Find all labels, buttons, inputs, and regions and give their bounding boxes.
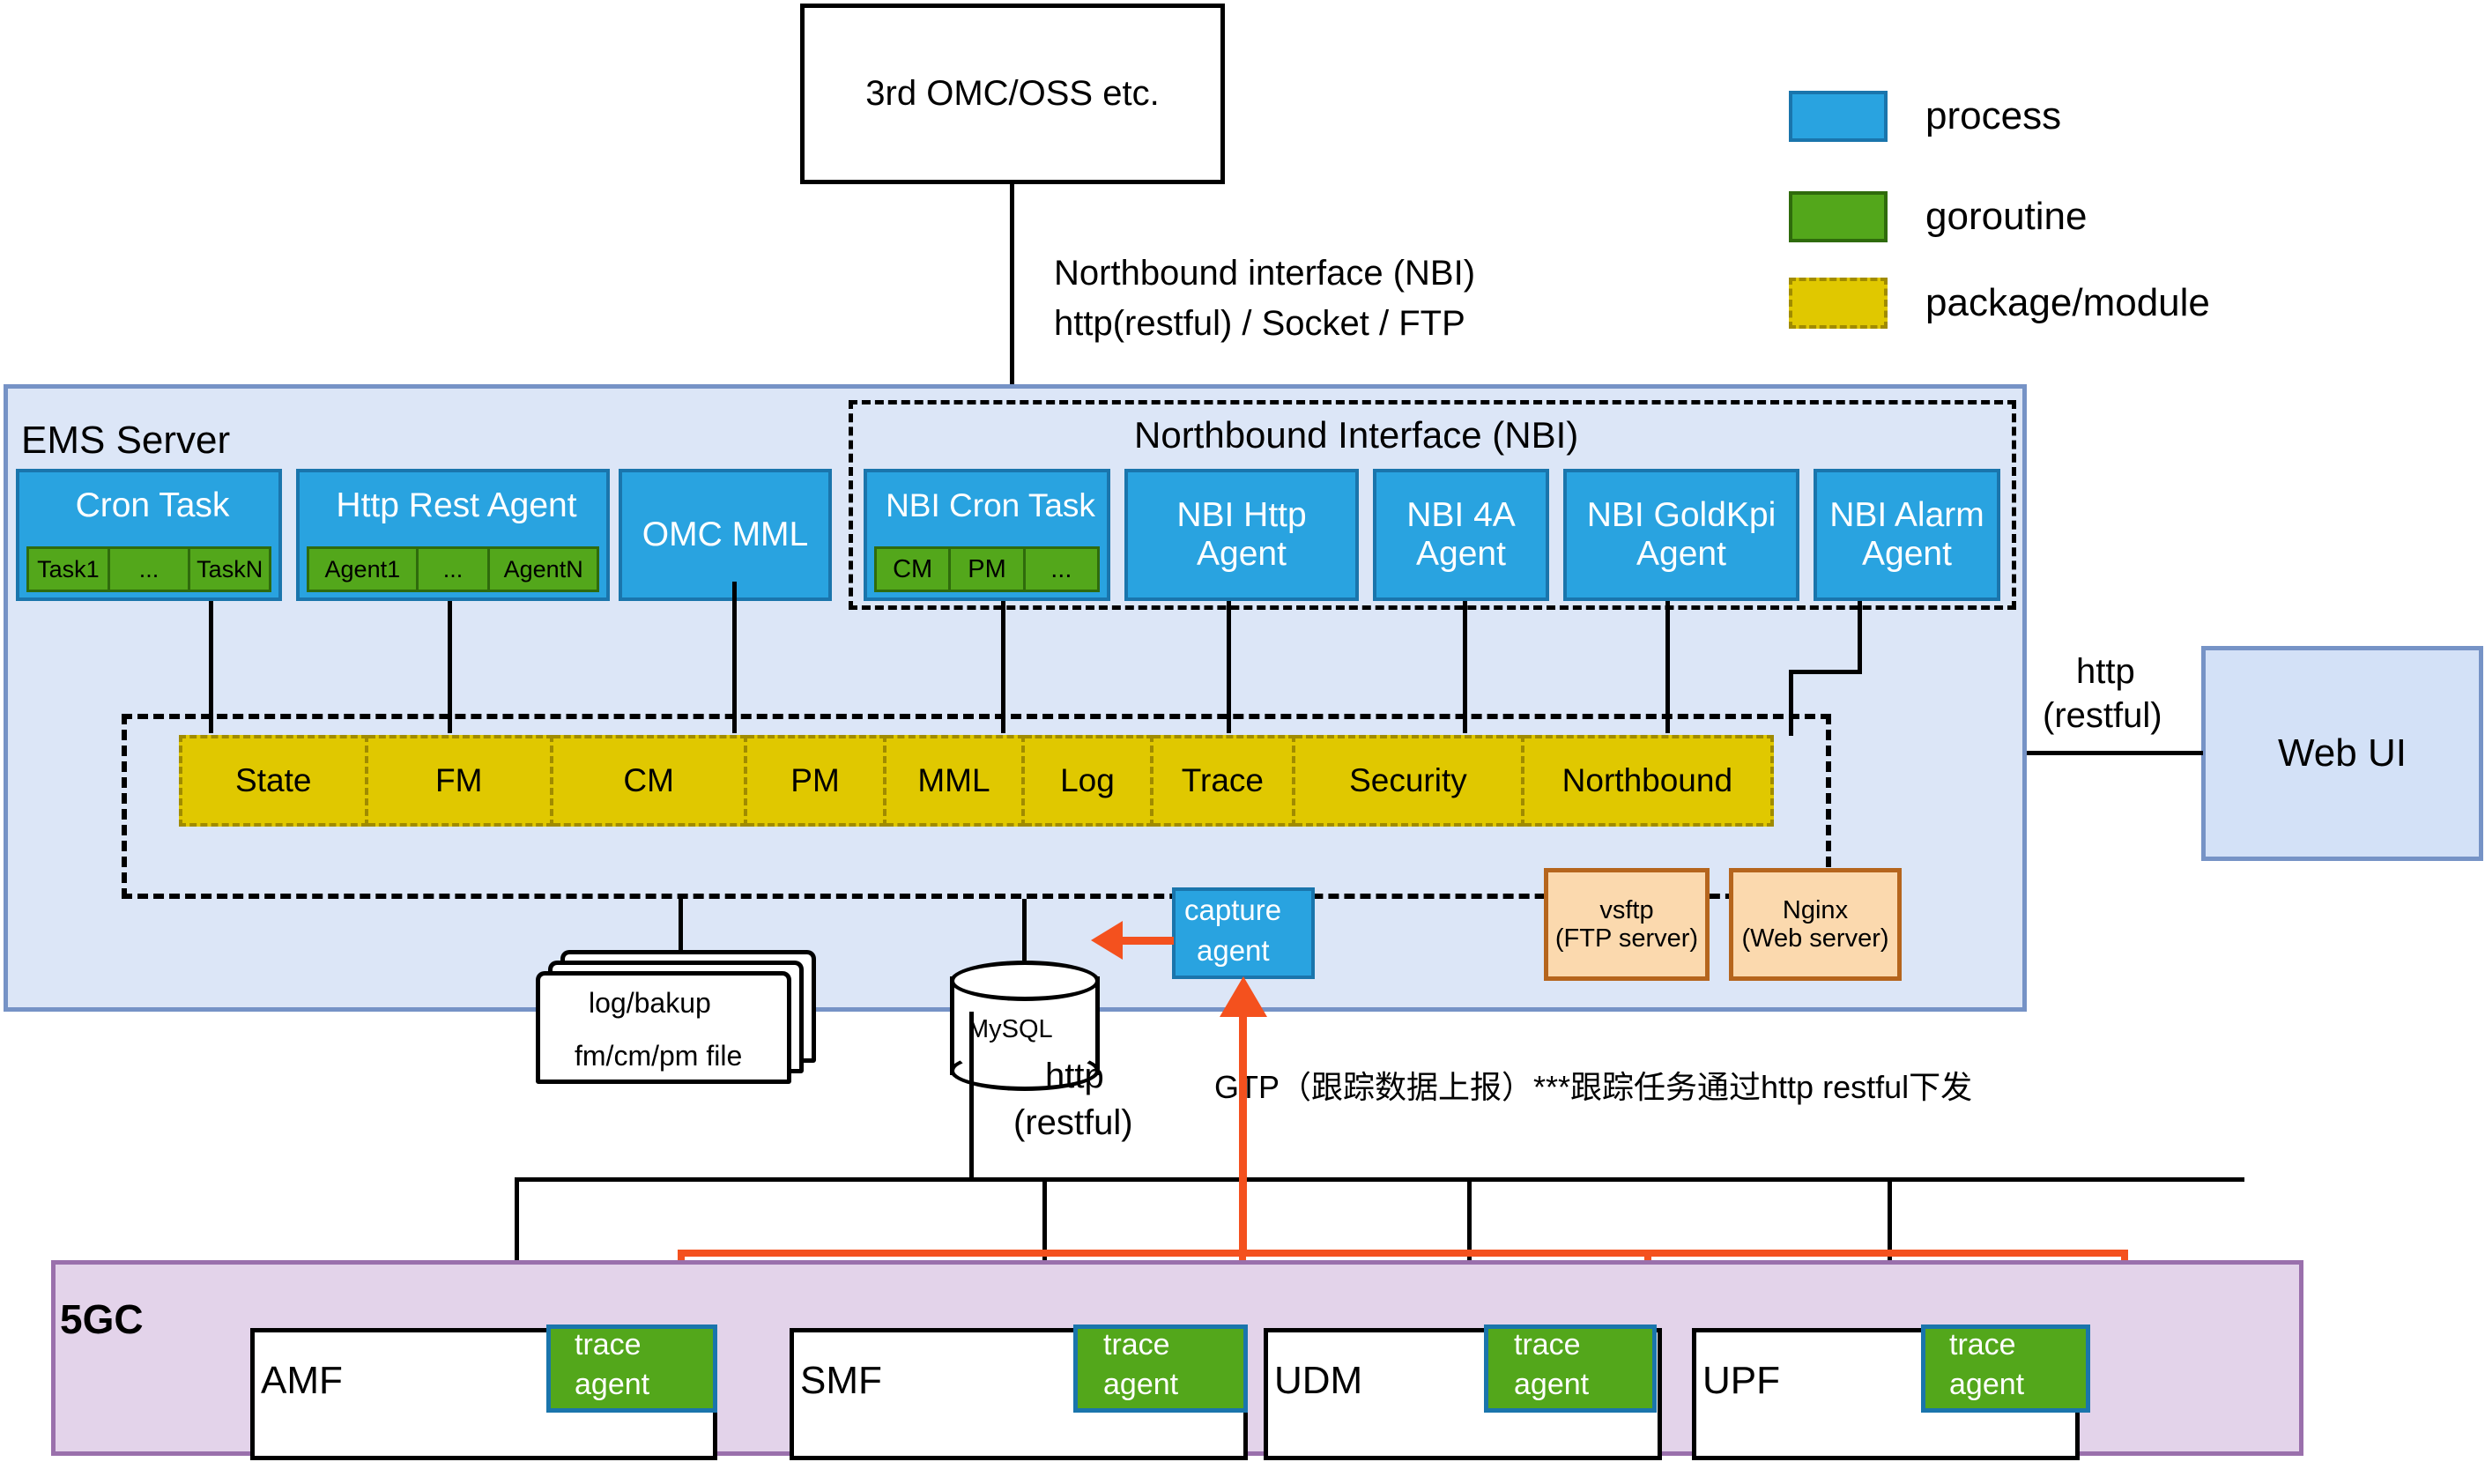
goroutine-group-cron-task: Task1 ... TaskN (26, 546, 271, 592)
module-fm[interactable]: FM (368, 735, 554, 827)
goroutine-nbi-pm[interactable]: PM (951, 546, 1025, 592)
southbound-http-label-line1: http (1045, 1057, 1104, 1096)
goroutine-nbi-cm-label: CM (893, 555, 932, 583)
process-http-rest-agent-label: Http Rest Agent (300, 481, 613, 531)
goroutine-group-http-rest-agent: Agent1 ... AgentN (307, 546, 599, 592)
nginx-label-line2: (Web server) (1741, 924, 1888, 953)
module-trace-label: Trace (1182, 762, 1264, 798)
web-ui-label: Web UI (2278, 731, 2407, 775)
process-nbi-goldkpi-agent-label: NBI GoldKpi Agent (1572, 496, 1791, 573)
nf-label-upf: UPF (1702, 1359, 1780, 1403)
nf-label-amf: AMF (261, 1359, 343, 1403)
nbi-link-label-line1: Northbound interface (NBI) (1054, 254, 1475, 293)
nf-label-udm: UDM (1274, 1359, 1362, 1403)
connector-nbi-alarm-agent-vertical-upper (1858, 601, 1862, 673)
module-northbound[interactable]: Northbound (1524, 735, 1774, 827)
arrow-trace-to-capture-shaft (1239, 1012, 1247, 1254)
legend-swatch-process (1789, 91, 1888, 142)
southbound-bus (515, 1177, 2244, 1182)
file-stack-label-line1: log/bakup (589, 987, 711, 1020)
module-pm-label: PM (790, 762, 840, 798)
process-nbi-alarm-agent-label: NBI Alarm Agent (1822, 496, 1992, 573)
module-log-label: Log (1060, 762, 1115, 798)
ems-server-title: EMS Server (21, 419, 230, 463)
module-security-label: Security (1349, 762, 1467, 798)
trace-agent-amf-label-line1: trace (575, 1328, 642, 1362)
goroutine-group-nbi-cron-task: CM PM ... (874, 546, 1100, 592)
trace-agent-smf-label-line2: agent (1103, 1368, 1178, 1402)
legend-label-goroutine: goroutine (1925, 195, 2087, 239)
trace-agent-udm-label-line1: trace (1514, 1328, 1581, 1362)
vsftp-label-line1: vsftp (1555, 896, 1698, 924)
module-mml[interactable]: MML (886, 735, 1025, 827)
third-party-oss-label: 3rd OMC/OSS etc. (865, 74, 1159, 114)
process-omc-mml[interactable]: OMC MML (619, 469, 832, 601)
goroutine-nbi-ellipsis[interactable]: ... (1026, 546, 1100, 592)
process-nbi-alarm-agent[interactable]: NBI Alarm Agent (1814, 469, 2000, 601)
trace-agent-udm-label-line2: agent (1514, 1368, 1589, 1402)
goroutine-agent1[interactable]: Agent1 (307, 546, 419, 592)
gc-title: 5GC (60, 1295, 144, 1343)
connector-ems-to-southbound-trunk (969, 1012, 974, 1181)
vsftp-label-line2: (FTP server) (1555, 924, 1698, 953)
process-nbi-4a-agent-label: NBI 4A Agent (1382, 496, 1540, 573)
nginx-label-line1: Nginx (1741, 896, 1888, 924)
nf-label-smf: SMF (800, 1359, 882, 1403)
goroutine-task-ellipsis[interactable]: ... (110, 546, 191, 592)
legend-label-package: package/module (1925, 281, 2210, 325)
module-cm[interactable]: CM (553, 735, 747, 827)
process-nbi-http-agent-label: NBI Http Agent (1133, 496, 1350, 573)
connector-ems-to-webui (2027, 751, 2203, 755)
process-nbi-http-agent[interactable]: NBI Http Agent (1124, 469, 1359, 601)
module-security[interactable]: Security (1295, 735, 1524, 827)
trace-collection-bus (678, 1250, 2128, 1257)
goroutine-task1-label: Task1 (37, 556, 100, 582)
gtp-note-label: GTP（跟踪数据上报）***跟踪任务通过http restful下发 (1214, 1062, 1972, 1108)
module-log[interactable]: Log (1025, 735, 1153, 827)
goroutine-agentn[interactable]: AgentN (490, 546, 599, 592)
goroutine-taskn-label: TaskN (197, 556, 263, 582)
arrow-capture-to-mysql-head (1091, 921, 1123, 960)
trace-agent-smf-label-line1: trace (1103, 1328, 1170, 1362)
goroutine-nbi-pm-label: PM (968, 555, 1006, 583)
module-northbound-label: Northbound (1562, 762, 1732, 798)
webui-link-label-line2: (restful) (2043, 696, 2162, 736)
process-cron-task-label: Cron Task (19, 481, 286, 531)
goroutine-taskn[interactable]: TaskN (190, 546, 271, 592)
goroutine-agentn-label: AgentN (504, 556, 583, 582)
trace-agent-upf-label-line2: agent (1949, 1368, 2024, 1402)
module-mml-label: MML (917, 762, 990, 798)
southbound-http-label-line2: (restful) (1013, 1103, 1133, 1143)
legend-label-process: process (1925, 94, 2061, 138)
connector-omc-mml-to-modules (732, 582, 737, 733)
legend-swatch-goroutine (1789, 191, 1888, 242)
mysql-label: MySQL (968, 1015, 1053, 1044)
connector-nbi-alarm-agent-horizontal (1789, 670, 1862, 674)
goroutine-agent1-label: Agent1 (325, 556, 401, 582)
module-cm-label: CM (623, 762, 674, 798)
goroutine-task-ellipsis-label: ... (139, 556, 159, 582)
module-state[interactable]: State (179, 735, 368, 827)
goroutine-task1[interactable]: Task1 (26, 546, 110, 592)
legend-swatch-package (1789, 278, 1888, 329)
nbi-link-label-line2: http(restful) / Socket / FTP (1054, 304, 1465, 344)
module-pm[interactable]: PM (747, 735, 886, 827)
file-stack-label-line2: fm/cm/pm file (575, 1040, 742, 1072)
nginx-server-box[interactable]: Nginx (Web server) (1729, 868, 1902, 981)
process-nbi-cron-task-label: NBI Cron Task (867, 481, 1114, 531)
process-nbi-4a-agent[interactable]: NBI 4A Agent (1373, 469, 1549, 601)
web-ui-box[interactable]: Web UI (2201, 646, 2483, 861)
module-state-label: State (235, 762, 311, 798)
legend: process goroutine package/module (1789, 84, 2335, 322)
module-bar: State FM CM PM MML Log Trace Security No… (179, 735, 1774, 827)
goroutine-agent-ellipsis[interactable]: ... (419, 546, 491, 592)
third-party-oss-box[interactable]: 3rd OMC/OSS etc. (800, 4, 1225, 184)
trace-agent-amf-label-line2: agent (575, 1368, 649, 1402)
vsftp-server-box[interactable]: vsftp (FTP server) (1544, 868, 1710, 981)
goroutine-nbi-ellipsis-label: ... (1050, 555, 1072, 583)
goroutine-agent-ellipsis-label: ... (443, 556, 464, 582)
arrow-capture-to-mysql-shaft (1119, 937, 1174, 945)
capture-agent-label-line2: agent (1197, 934, 1270, 968)
process-nbi-goldkpi-agent[interactable]: NBI GoldKpi Agent (1563, 469, 1799, 601)
module-fm-label: FM (435, 762, 482, 798)
webui-link-label-line1: http (2076, 652, 2135, 692)
module-trace[interactable]: Trace (1153, 735, 1295, 827)
goroutine-nbi-cm[interactable]: CM (874, 546, 951, 592)
capture-agent-label-line1: capture (1184, 894, 1281, 927)
nbi-group-title: Northbound Interface (NBI) (1134, 414, 1578, 456)
process-omc-mml-label: OMC MML (642, 516, 809, 554)
trace-agent-upf-label-line1: trace (1949, 1328, 2016, 1362)
connector-oss-to-ems (1010, 184, 1014, 384)
arrow-trace-to-capture-head (1220, 976, 1267, 1017)
connector-modules-to-mysql (1022, 899, 1027, 961)
